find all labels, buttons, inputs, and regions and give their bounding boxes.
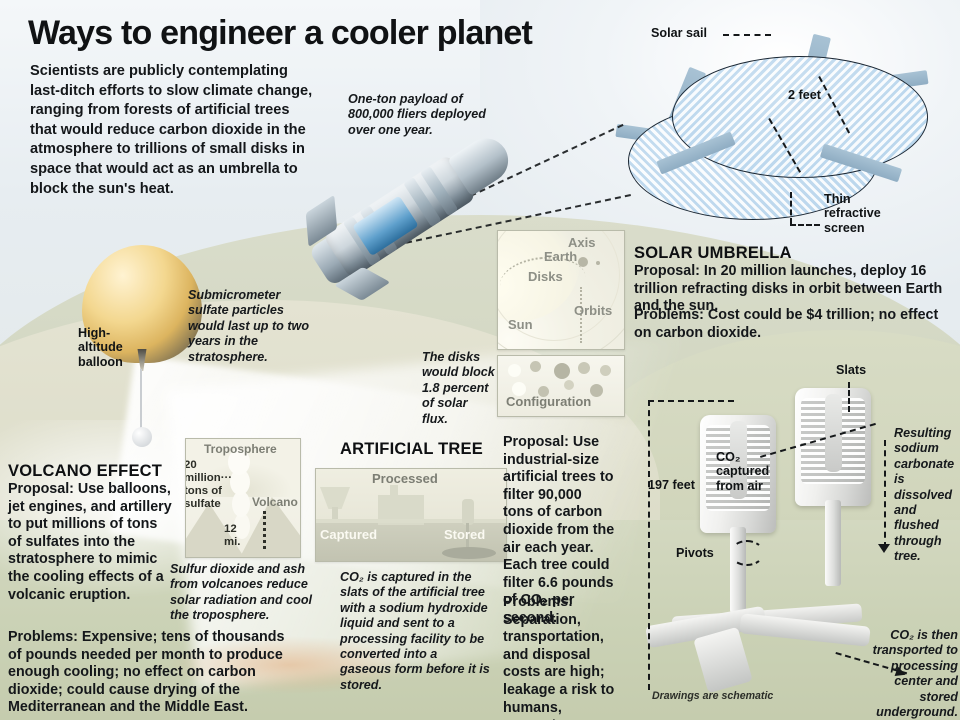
stored-label: Stored: [444, 527, 485, 542]
pivots-label: Pivots: [676, 546, 714, 560]
tree-problems-text: Separation, transportation, and disposal…: [503, 612, 614, 720]
wellhead: [462, 499, 474, 525]
factory-stack: [390, 485, 398, 499]
storage-reservoir: [442, 547, 496, 559]
tree-height-label: 197 feet: [648, 478, 695, 492]
volcano-label: Volcano: [252, 495, 298, 509]
processed-label: Processed: [372, 471, 438, 486]
screen-leader-h: [790, 224, 820, 226]
volcano-proposal-text: Use balloons, jet engines, and artillery…: [8, 481, 172, 603]
config-disk-3: [554, 363, 570, 379]
problems-label: Problems:: [634, 307, 704, 323]
rocket-caption: One-ton payload of 800,000 fliers deploy…: [348, 92, 488, 138]
solar-sail-label: Solar sail: [651, 26, 707, 40]
sodium-carbonate-note: Resulting sodium carbonate is dissolved …: [894, 426, 960, 565]
config-disk-9: [590, 384, 603, 397]
volcano-proposal-label: Proposal:: [8, 481, 74, 497]
volcano-heading: VOLCANO EFFECT: [8, 462, 162, 481]
config-disk-2: [530, 361, 541, 372]
footnote: Drawings are schematic: [652, 690, 773, 702]
sodium-leader: [884, 440, 886, 548]
co2-captured-label: CO₂ captured from air: [716, 450, 778, 493]
balloon-note: Submicrometer sulfate particles would la…: [188, 288, 310, 365]
sulfate-label: 20 million··· tons of sulfate: [185, 459, 232, 511]
solar-umbrella-problems: Problems: Cost could be $4 trillion; no …: [634, 307, 956, 342]
earth-label: Earth: [544, 249, 577, 264]
captured-label: Captured: [320, 527, 377, 542]
sail-size-label: 2 feet: [788, 88, 821, 102]
height-leader-top: [648, 400, 734, 402]
disks-label: Disks: [528, 269, 563, 284]
artificial-tree-note: CO₂ is captured in the slats of the arti…: [340, 570, 490, 693]
volcano-problems-label: Problems:: [8, 629, 78, 645]
sodium-arrowhead: [878, 544, 890, 553]
slats-label: Slats: [836, 363, 866, 377]
volcano-proposal: Proposal: Use balloons, jet engines, and…: [8, 481, 174, 604]
tree-head-back: [795, 388, 871, 506]
balloon-label: High-altitude balloon: [78, 326, 136, 369]
config-disk-5: [600, 365, 611, 376]
intro-paragraph: Scientists are publicly contemplating la…: [30, 62, 318, 199]
config-disk-4: [578, 362, 590, 374]
proposal-label: Proposal:: [634, 263, 700, 279]
solar-sail-leader: [723, 34, 771, 36]
page-title: Ways to engineer a cooler planet: [28, 14, 628, 53]
configuration-label: Configuration: [506, 394, 591, 409]
volcano-depth-leader: [263, 511, 266, 549]
artificial-tree-heading: ARTIFICIAL TREE: [340, 440, 483, 459]
balloon-tether: [140, 369, 142, 431]
config-disk-8: [564, 380, 574, 390]
volcano-problems: Problems: Expensive; tens of thousands o…: [8, 629, 298, 717]
slats-leader: [848, 382, 850, 412]
troposphere-note: Sulfur dioxide and ash from volcanoes re…: [170, 562, 318, 624]
troposphere-inset-box: Troposphere 20 million··· tons of sulfat…: [185, 438, 301, 558]
disks-flux-note: The disks would block 1.8 percent of sol…: [422, 350, 496, 427]
orbits-label: Orbits: [574, 303, 612, 318]
balloon-payload-pod: [132, 427, 152, 447]
solar-umbrella-heading: SOLAR UMBRELLA: [634, 244, 792, 263]
pipeline: [316, 519, 506, 523]
moon-dot: [596, 261, 600, 265]
height-leader-v: [648, 400, 650, 690]
thin-screen-label: Thin refractive screen: [824, 192, 894, 235]
artificial-tree-inset-box: Processed Captured Stored: [315, 468, 507, 562]
transport-note: CO₂ is then transported to processing ce…: [858, 628, 958, 720]
axis-label: Axis: [568, 235, 595, 250]
artificial-tree-problems: Problems: Separation, transportation, an…: [503, 594, 619, 720]
screen-leader-v: [790, 192, 792, 224]
tree-problems-label: Problems:: [503, 594, 573, 610]
tree-icon: [320, 487, 350, 509]
pivot-arrow-icon: [730, 540, 764, 566]
orbit-inset-box: Axis Earth Disks Orbits Sun: [497, 230, 625, 350]
tree-proposal-label: Proposal:: [503, 434, 569, 450]
solar-sail-disc: [672, 56, 928, 178]
height-label: 12 mi.: [224, 523, 250, 549]
config-disk-1: [508, 364, 521, 377]
sun-label: Sun: [508, 317, 533, 332]
troposphere-label: Troposphere: [204, 442, 277, 456]
configuration-inset-box: Configuration: [497, 355, 625, 417]
tree-stem-back: [825, 500, 841, 586]
infographic-canvas: Ways to engineer a cooler planet Scienti…: [0, 0, 960, 720]
